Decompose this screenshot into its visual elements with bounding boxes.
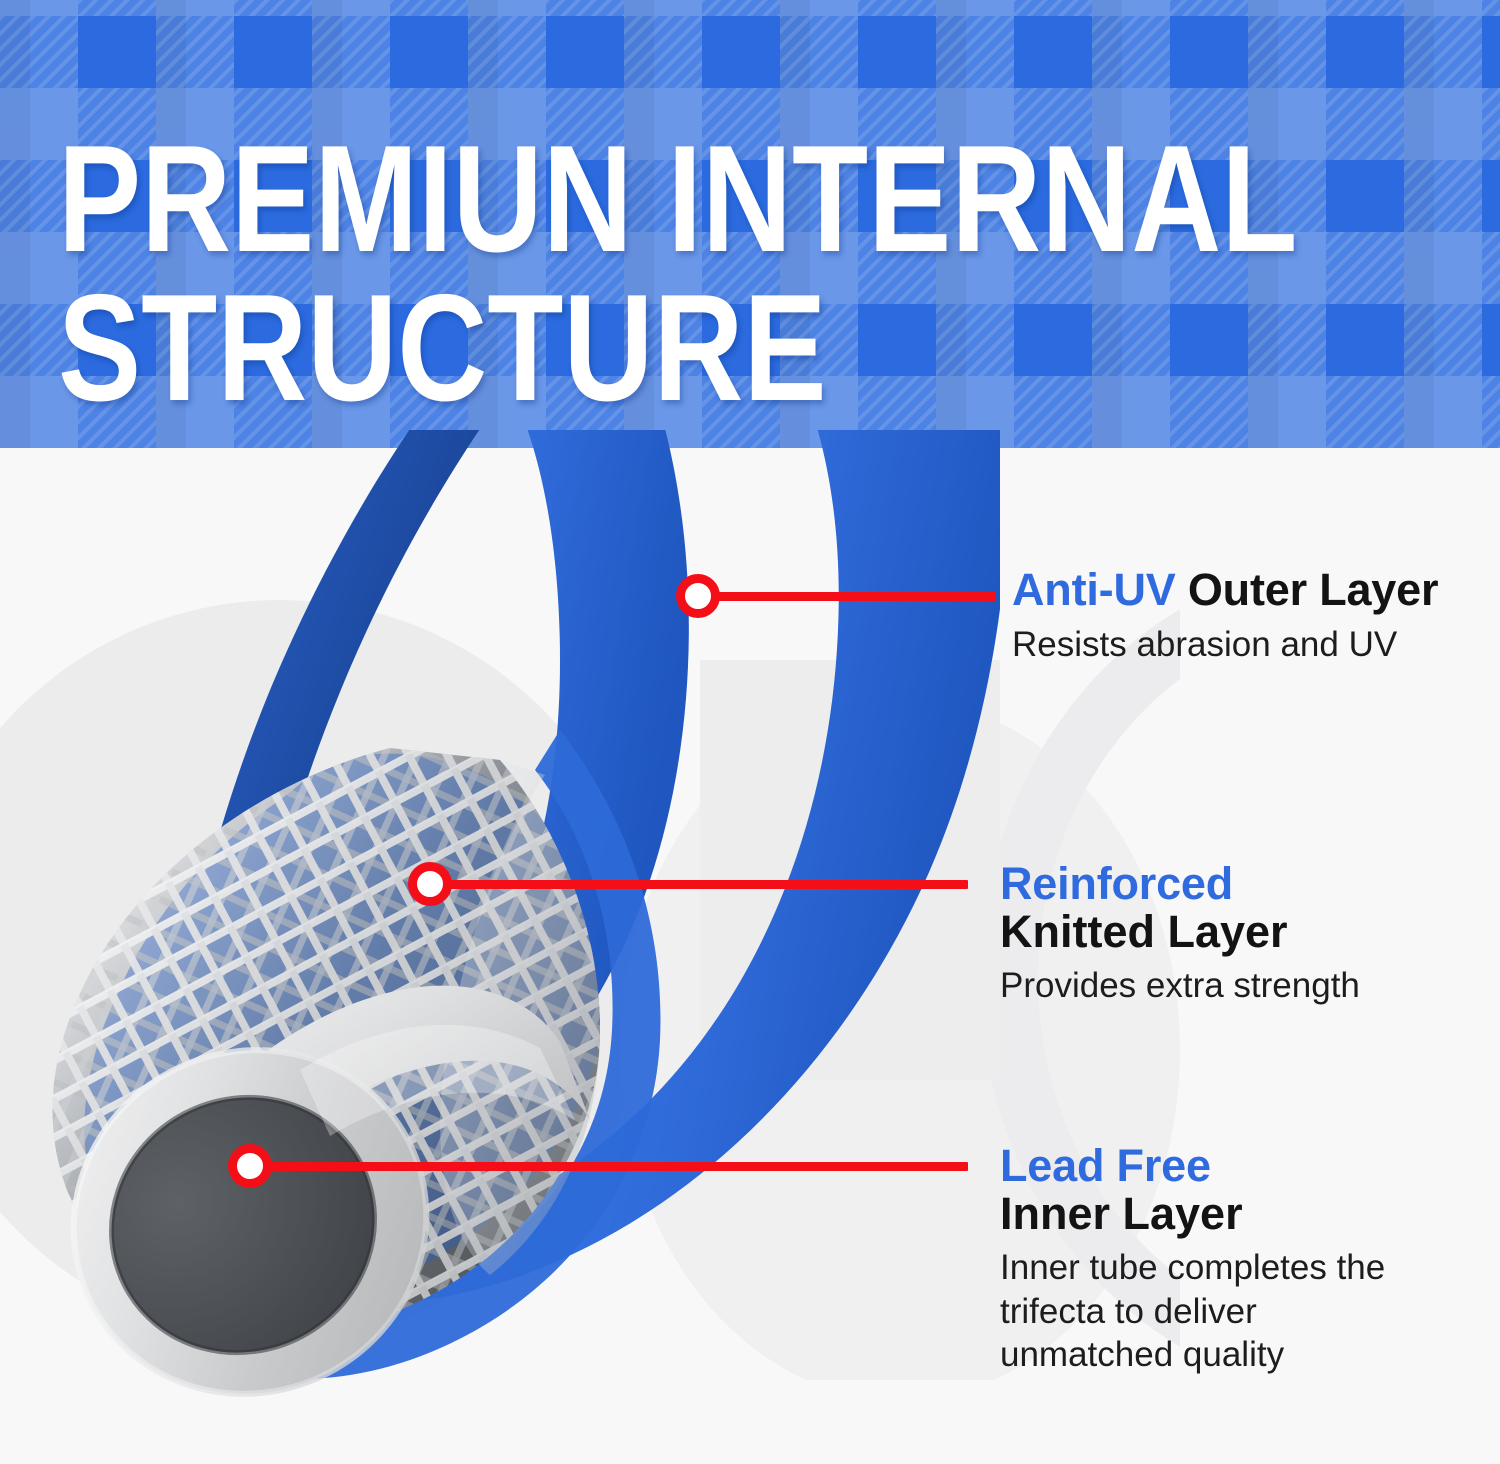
callout-sub-inner: Inner tube completes the trifecta to del… [1000,1246,1385,1376]
callout-title-inner: Lead Free [1000,1142,1385,1190]
callout-label-outer-layer: Anti-UV Outer Layer Resists abrasion and… [1012,566,1438,666]
callout-sub-knitted-line-1: Provides extra strength [1000,964,1360,1007]
callout-dot-outer[interactable] [676,574,720,618]
callout-inner-layer [228,1144,968,1188]
callout-outer-layer [676,574,996,618]
callout-label-inner-layer: Lead Free Inner Layer Inner tube complet… [1000,1142,1385,1377]
callout-line-knitted [430,880,968,889]
callout-title-outer-rest: Outer Layer [1176,564,1439,615]
callout-title-knitted-second: Knitted Layer [1000,908,1360,956]
callout-line-outer [698,592,996,601]
callout-sub-knitted: Provides extra strength [1000,964,1360,1007]
infographic-page: PREMIUN INTERNAL STRUCTURE [0,0,1500,1464]
callout-sub-inner-line-1: Inner tube completes the [1000,1246,1385,1289]
page-title-line-2: STRUCTURE [58,277,1206,420]
page-title-line-1: PREMIUN INTERNAL [58,128,1206,271]
callout-title-knitted: Reinforced [1000,860,1360,908]
header-banner: PREMIUN INTERNAL STRUCTURE [0,0,1500,448]
callout-label-knitted-layer: Reinforced Knitted Layer Provides extra … [1000,860,1360,1008]
callout-title-inner-second: Inner Layer [1000,1190,1385,1238]
callout-sub-inner-line-2: trifecta to deliver [1000,1290,1385,1333]
callout-dot-inner[interactable] [228,1144,272,1188]
callout-dot-knitted[interactable] [408,862,452,906]
callout-title-knitted-highlight: Reinforced [1000,858,1233,909]
page-title: PREMIUN INTERNAL STRUCTURE [58,128,1458,420]
callout-sub-outer-line-1: Resists abrasion and UV [1012,623,1438,666]
callout-title-inner-highlight: Lead Free [1000,1140,1211,1191]
callout-sub-outer: Resists abrasion and UV [1012,623,1438,666]
callout-title-outer-highlight: Anti-UV [1012,564,1176,615]
callout-knitted-layer [408,862,968,906]
callout-title-outer: Anti-UV Outer Layer [1012,566,1438,614]
callout-sub-inner-line-3: unmatched quality [1000,1333,1385,1376]
callout-line-inner [250,1162,968,1171]
